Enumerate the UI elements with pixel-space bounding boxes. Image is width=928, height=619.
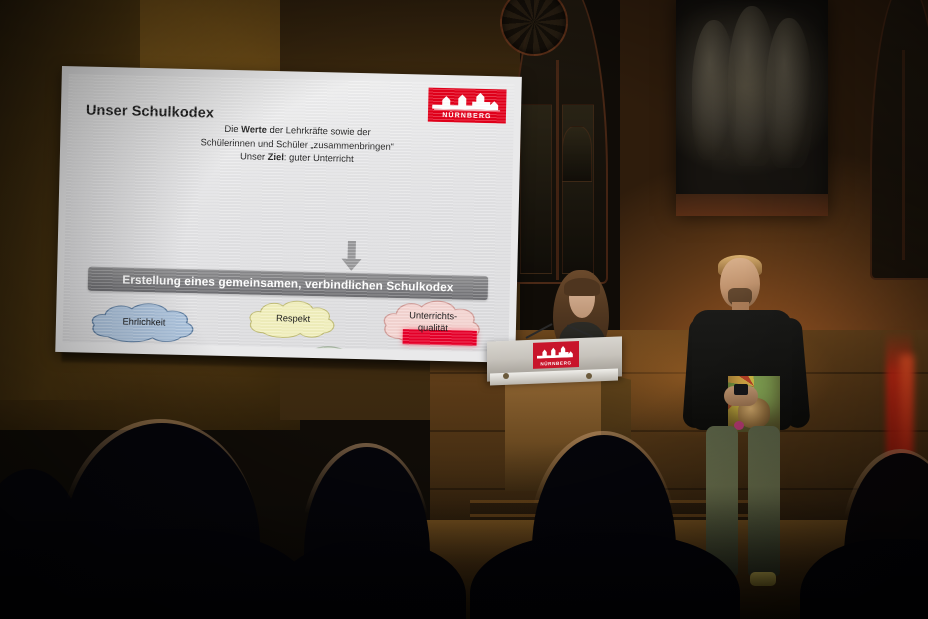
slide-title: Unser Schulkodex xyxy=(86,103,214,122)
nuremberg-logo: NÜRNBERG xyxy=(428,88,507,124)
presenter-shoe-right xyxy=(750,572,776,586)
presenter-sweatshirt xyxy=(692,310,792,430)
lectern-logo-wordmark: NÜRNBERG xyxy=(533,360,579,367)
window-pane xyxy=(520,104,552,274)
slide-banner: Erstellung eines gemeinsamen, verbindlic… xyxy=(88,267,488,300)
wall-relief-artwork xyxy=(676,0,828,216)
presentation-photo-scene: Unser Schulkodex Die Werte der Lehrkräft… xyxy=(0,0,928,619)
lectern-knob xyxy=(503,373,509,379)
presenter-legs xyxy=(704,426,782,576)
nuremberg-skyline-icon xyxy=(537,344,575,358)
gothic-arch-window-right xyxy=(870,0,928,280)
arrow-down-icon xyxy=(340,241,363,272)
presenter-clicker-device xyxy=(734,384,748,395)
relief-base xyxy=(676,194,828,216)
lectern-nuremberg-logo: NÜRNBERG xyxy=(533,341,579,369)
logo-wordmark: NÜRNBERG xyxy=(428,112,506,121)
value-cloud-label: Unterrichts-qualität xyxy=(409,311,458,335)
window-mullion xyxy=(902,50,905,260)
value-cloud-label: Ehrlichkeit xyxy=(122,317,165,330)
slide-subtitle: Die Werte der Lehrkräfte sowie der Schül… xyxy=(147,120,448,168)
value-cloud-label: Respekt xyxy=(276,313,310,325)
nuremberg-skyline-icon xyxy=(432,90,502,111)
value-cloud: Ehrlichkeit xyxy=(88,299,199,348)
window-pane-tracery xyxy=(562,126,592,182)
relief-figure xyxy=(766,18,812,168)
presenter-leg-right xyxy=(748,426,780,576)
value-cloud: Respekt xyxy=(247,296,340,342)
projection-screen: Unser Schulkodex Die Werte der Lehrkräft… xyxy=(55,66,522,363)
window-mullion xyxy=(556,60,559,280)
presentation-slide: Unser Schulkodex Die Werte der Lehrkräft… xyxy=(62,74,514,352)
lectern-knob xyxy=(586,373,592,379)
logo-rule xyxy=(434,109,500,112)
speaker-hair-front xyxy=(564,278,600,296)
